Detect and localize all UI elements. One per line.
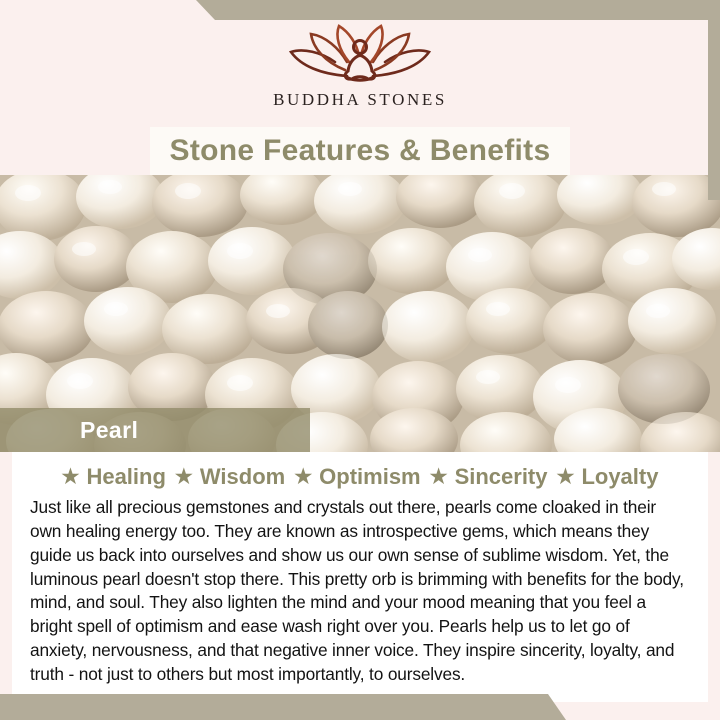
benefit-item-wisdom: ★ Wisdom [175, 464, 285, 490]
star-icon: ★ [175, 467, 193, 487]
benefit-label: Loyalty [581, 464, 658, 490]
page-title: Stone Features & Benefits [170, 134, 551, 168]
benefit-label: Healing [86, 464, 165, 490]
stone-info-card: BUDDHA STONES Stone Features & Benefits [0, 0, 720, 720]
benefit-item-sincerity: ★ Sincerity [430, 464, 548, 490]
star-icon: ★ [430, 467, 448, 487]
description-panel: ★ Healing ★ Wisdom ★ Optimism ★ Sincerit… [12, 452, 708, 702]
description-text: Just like all precious gemstones and cry… [30, 496, 690, 687]
benefit-item-healing: ★ Healing [62, 464, 166, 490]
benefits-list: ★ Healing ★ Wisdom ★ Optimism ★ Sincerit… [12, 464, 708, 490]
brand-header: BUDDHA STONES [0, 0, 720, 128]
star-icon: ★ [294, 467, 312, 487]
benefit-item-optimism: ★ Optimism [294, 464, 420, 490]
stone-name: Pearl [0, 417, 138, 444]
stone-name-band: Pearl [0, 408, 310, 452]
title-banner: Stone Features & Benefits [150, 127, 570, 175]
brand-name: BUDDHA STONES [273, 90, 447, 110]
benefit-label: Sincerity [455, 464, 548, 490]
benefit-label: Wisdom [200, 464, 285, 490]
benefit-item-loyalty: ★ Loyalty [557, 464, 659, 490]
lotus-meditation-icon [285, 22, 435, 84]
pearl-photo: Pearl [0, 175, 720, 452]
benefit-label: Optimism [319, 464, 420, 490]
star-icon: ★ [557, 467, 575, 487]
star-icon: ★ [62, 467, 80, 487]
